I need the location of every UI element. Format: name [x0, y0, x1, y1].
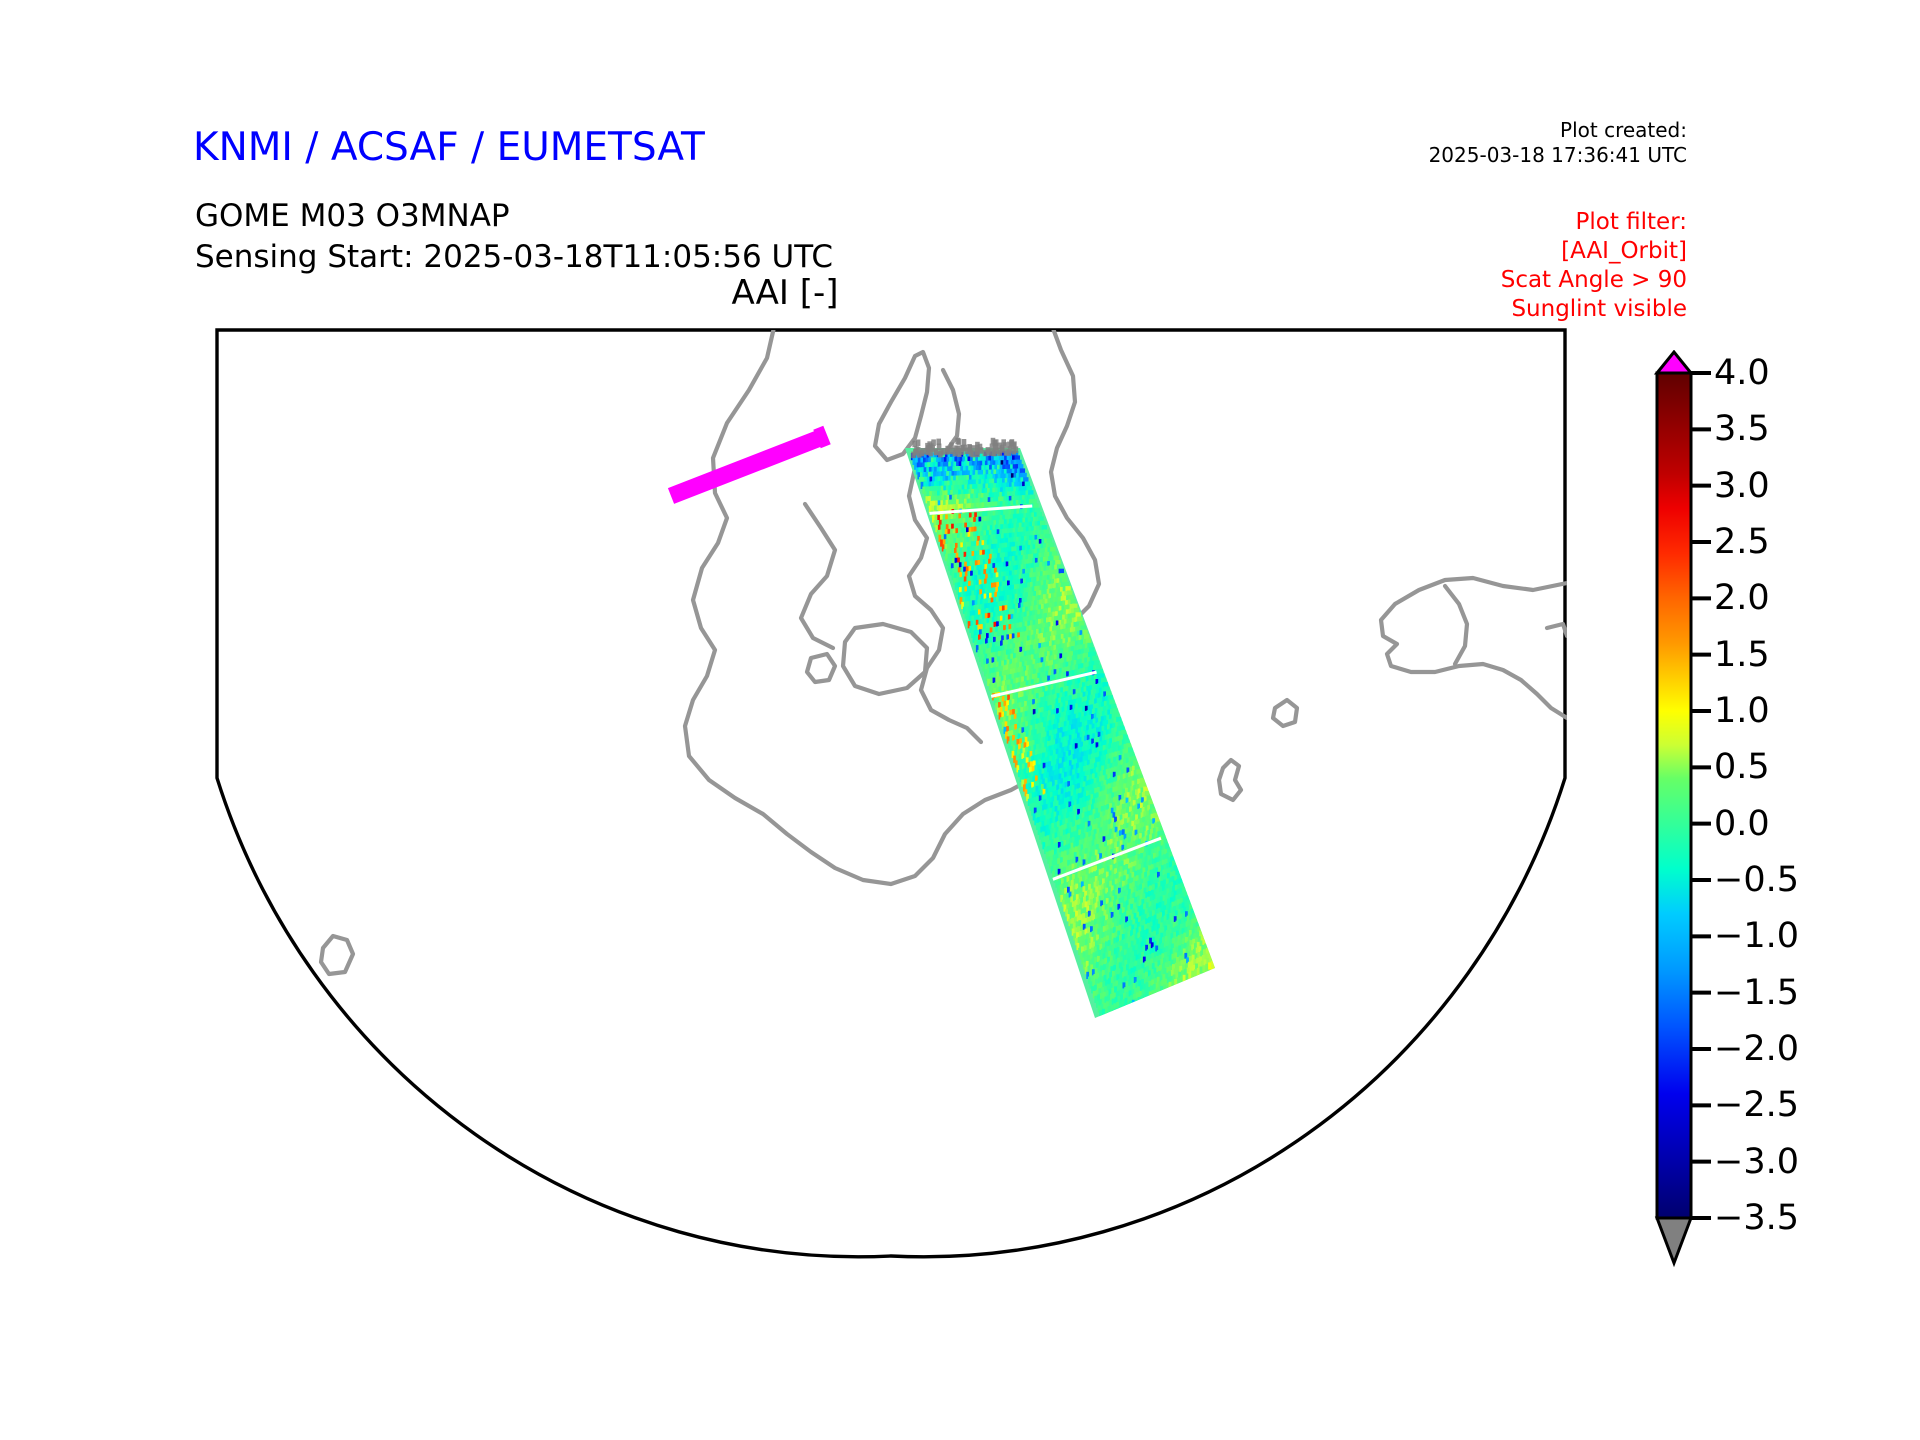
colorbar-tick-label: 0.0: [1714, 804, 1770, 844]
plot-created-value: 2025-03-18 17:36:41 UTC: [1429, 143, 1687, 168]
page-title: AAI [-]: [0, 273, 1570, 313]
colorbar-under-arrow: [1657, 1218, 1691, 1263]
colorbar-tick-label: 3.5: [1714, 409, 1770, 449]
colorbar-tick-label: 1.5: [1714, 635, 1770, 675]
colorbar-tick-label: 2.5: [1714, 522, 1770, 562]
colorbar-tick-label: 4.0: [1714, 353, 1770, 393]
colorbar-tick-label: −2.5: [1714, 1085, 1799, 1125]
map-limit-border: [217, 330, 1565, 1257]
plot-filter-label: Plot filter:: [1501, 208, 1687, 237]
colorbar-body: [1657, 373, 1691, 1218]
colorbar-tick-label: −3.5: [1714, 1198, 1799, 1238]
colorbar-tick-label: 2.0: [1714, 578, 1770, 618]
plot-filter-condition: Scat Angle > 90: [1501, 266, 1687, 295]
plot-filter-name: [AAI_Orbit]: [1501, 237, 1687, 266]
colorbar: 4.03.53.02.52.01.51.00.50.0−0.5−1.0−1.5−…: [1648, 350, 1908, 1280]
plot-created-block: Plot created: 2025-03-18 17:36:41 UTC: [1429, 118, 1687, 168]
aai-plot-page: KNMI / ACSAF / EUMETSAT GOME M03 O3MNAP …: [0, 0, 1920, 1440]
colorbar-svg: [1648, 350, 1908, 1280]
plot-filter-block: Plot filter: [AAI_Orbit] Scat Angle > 90…: [1501, 208, 1687, 324]
colorbar-tick-label: −0.5: [1714, 860, 1799, 900]
colorbar-tick-label: −1.5: [1714, 973, 1799, 1013]
colorbar-ticks: [1691, 373, 1711, 1218]
colorbar-tick-label: 3.0: [1714, 466, 1770, 506]
colorbar-tick-label: −1.0: [1714, 916, 1799, 956]
polar-stereographic-map: [215, 328, 1567, 1268]
colorbar-tick-label: 0.5: [1714, 747, 1770, 787]
plot-created-label: Plot created:: [1429, 118, 1687, 143]
plot-filter-note: Sunglint visible: [1501, 295, 1687, 324]
map-panel: [215, 328, 1567, 1268]
product-name: GOME M03 O3MNAP: [195, 198, 510, 234]
organisation-title: KNMI / ACSAF / EUMETSAT: [193, 125, 705, 170]
sensing-start: Sensing Start: 2025-03-18T11:05:56 UTC: [195, 239, 833, 275]
colorbar-tick-label: −2.0: [1714, 1029, 1799, 1069]
colorbar-over-arrow: [1657, 352, 1691, 373]
colorbar-tick-label: 1.0: [1714, 691, 1770, 731]
colorbar-tick-label: −3.0: [1714, 1142, 1799, 1182]
